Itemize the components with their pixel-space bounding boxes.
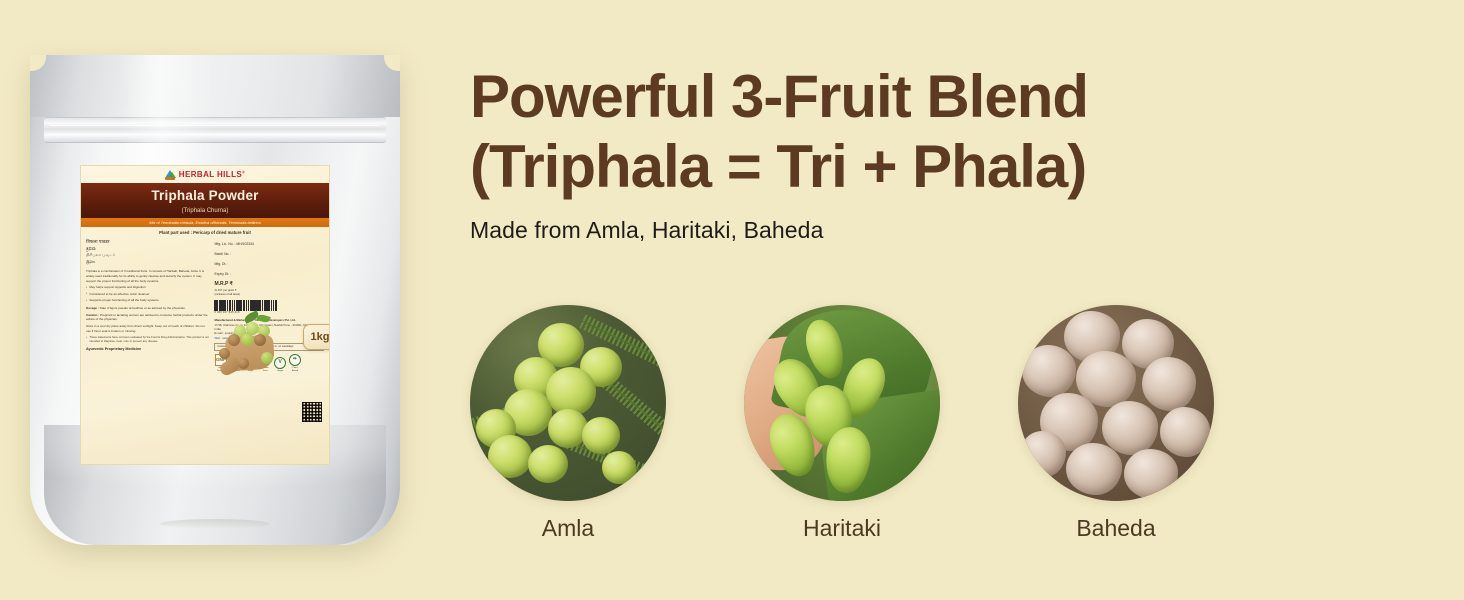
product-name-hindi: त्रिफला पावडर <box>86 239 209 246</box>
headline: Powerful 3-Fruit Blend (Triphala = Tri +… <box>470 0 1464 201</box>
brand-name: HERBAL HILLS® <box>179 169 245 181</box>
mfg-date: Mfg. Dt. : <box>214 260 324 270</box>
plant-part-text: Plant part used : Pericarp of dried matu… <box>81 227 329 239</box>
fruit-item-baheda: Baheda <box>1018 305 1214 542</box>
product-description: Triphala is a combination of 3 tradition… <box>86 269 209 283</box>
ayurvedic-note: Ayurvedic Proprietary Medicine <box>86 347 209 353</box>
amla-photo <box>470 305 666 501</box>
fruit-item-haritaki: Haritaki <box>744 305 940 542</box>
registration-details: Mfg. Lic. No. : MH/102334 Batch No. : Mf… <box>214 240 324 280</box>
benefits-block: Triphala is a combination of 3 tradition… <box>86 269 209 303</box>
fruit-label-amla: Amla <box>470 515 666 542</box>
headline-line-2: (Triphala = Tri + Phala) <box>470 132 1464 202</box>
subheadline: Made from Amla, Haritaki, Baheda <box>470 217 1464 244</box>
storage-text: Store in a cool dry place away from dire… <box>86 324 209 333</box>
pouch-gusset-seam <box>160 519 269 529</box>
label-left-column: त्रिफला पावडर ತ್ರಿಫಲಾ திரிபலா பவுடர் త్ర… <box>86 239 209 460</box>
benefit-item: Considered to be an effective colon clea… <box>86 292 209 297</box>
product-subtitle: (Triphala Churna) <box>81 207 329 216</box>
caution-text: Pregnant or lactating women are advised … <box>86 313 208 322</box>
product-label: HERBAL HILLS® Triphala Powder (Triphala … <box>80 165 330 465</box>
fruit-list: Amla Haritaki <box>470 305 1230 542</box>
mrp-block: M.R.P ₹ At R.P. per gram ₹ (inclusive of… <box>214 281 324 296</box>
certification-item: ❧ PlantBased <box>288 354 301 372</box>
brand-trademark: ® <box>242 170 245 174</box>
pouch-top-panel <box>30 55 400 117</box>
mountain-logo-icon <box>165 170 176 180</box>
dosage-label: Dosage : <box>86 306 99 310</box>
expiry-date: Expiry Dt. : <box>214 270 324 280</box>
fruit-label-baheda: Baheda <box>1018 515 1214 542</box>
certification-caption: Vegan <box>274 370 287 373</box>
weight-badge: 1kg <box>303 324 330 350</box>
product-name-telugu: త్రిఫల <box>86 259 209 265</box>
brand-name-text: HERBAL HILLS <box>179 170 242 179</box>
label-body: त्रिफला पावडर ತ್ರಿಫಲಾ திரிபலா பவுடர் త్ర… <box>81 239 329 464</box>
pouch-zipper-seal <box>44 117 386 143</box>
product-banner: HERBAL HILLS® Triphala Powder (Triphala … <box>0 0 1464 600</box>
dosage-text: Take 3 Sgms powder at bedtime or as advi… <box>100 306 186 310</box>
usage-block: Dosage : Take 3 Sgms powder at bedtime o… <box>86 306 209 334</box>
product-name-kannada: ತ್ರಿಫಲಾ <box>86 246 209 253</box>
benefit-item: Supports proper functioning of all the b… <box>86 298 209 303</box>
fruit-illustration <box>214 312 286 370</box>
mrp-tax-note: (inclusive of all taxes) <box>214 293 324 297</box>
fruit-item-amla: Amla <box>470 305 666 542</box>
product-pouch: HERBAL HILLS® Triphala Powder (Triphala … <box>30 55 400 545</box>
plant-based-icon: ❧ <box>289 354 301 366</box>
certification-caption: PlantBased <box>288 367 301 373</box>
barcode <box>214 300 308 311</box>
fda-disclaimer: These statements have not been evaluated… <box>86 336 209 344</box>
mfg-licence-no: Mfg. Lic. No. : MH/102334 <box>214 240 324 250</box>
botanical-mix-band: Mix of Terminalia chebula, Emblica offic… <box>81 218 329 227</box>
fruit-label-haritaki: Haritaki <box>744 515 940 542</box>
brand-logo: HERBAL HILLS® <box>81 166 329 183</box>
qr-code <box>302 402 322 422</box>
mrp-label: M.R.P ₹ <box>214 281 232 287</box>
benefit-item: May helps support Appetite and Digestion <box>86 285 209 290</box>
label-title-band: Triphala Powder (Triphala Churna) <box>81 183 329 218</box>
batch-no: Batch No. : <box>214 250 324 260</box>
banner-content: Powerful 3-Fruit Blend (Triphala = Tri +… <box>470 0 1464 600</box>
haritaki-photo <box>744 305 940 501</box>
caution-line: Caution : Pregnant or lactating women ar… <box>86 313 209 322</box>
product-title: Triphala Powder <box>81 186 329 206</box>
baheda-photo <box>1018 305 1214 501</box>
language-names: त्रिफला पावडर ತ್ರಿಫಲಾ திரிபலா பவுடர் త్ర… <box>86 239 209 265</box>
dosage-line: Dosage : Take 3 Sgms powder at bedtime o… <box>86 306 209 311</box>
headline-line-1: Powerful 3-Fruit Blend <box>470 63 1088 130</box>
caution-label: Caution : <box>86 313 99 317</box>
